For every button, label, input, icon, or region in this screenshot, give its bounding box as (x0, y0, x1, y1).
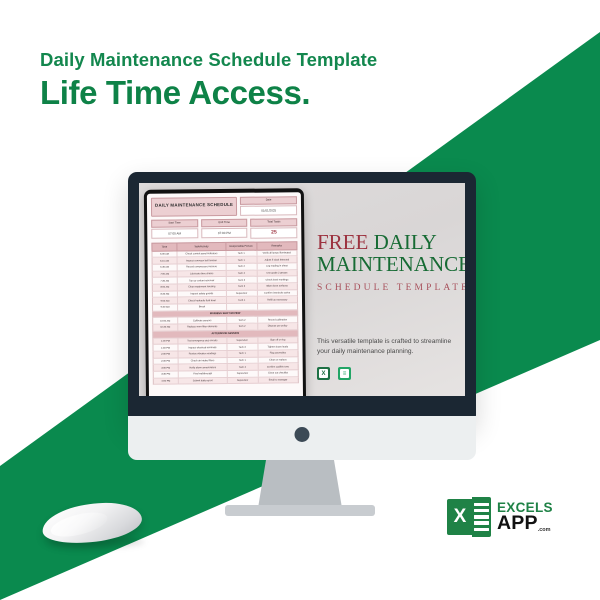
logo-text-app: APP.com (497, 514, 553, 534)
poster-line-2: MAINTENANCE (317, 253, 465, 275)
cell-time: 9:30 AM (153, 305, 178, 311)
cell-remarks: Refill as necessary (257, 297, 297, 303)
headline-subtitle: Daily Maintenance Schedule Template (40, 50, 377, 70)
cell-person: Supervisor (227, 337, 258, 343)
cell-remarks: Tighten loose leads (258, 343, 298, 349)
cell-time: 10:30 AM (153, 325, 178, 331)
cell-task: Test emergency stop circuits (178, 337, 227, 343)
google-sheets-icon-glyph: ≡ (340, 369, 349, 378)
cell-time: 6:30 AM (153, 264, 178, 270)
column-header-task: Task/Activity (177, 243, 226, 251)
cell-person: Tech 2 (227, 270, 258, 276)
cell-time: 6:15 AM (153, 258, 178, 264)
poster-line-3: SCHEDULE TEMPLATE (317, 283, 465, 293)
cell-task: Clean equipment housing (178, 284, 227, 290)
logo-x-letter: X (447, 499, 473, 535)
cell-remarks: Close out checklist (258, 370, 298, 376)
poster-word-daily: DAILY (374, 230, 437, 254)
cell-person: Tech 1 (227, 357, 258, 363)
cell-task: Calibrate sensors (178, 317, 227, 323)
spreadsheet-title: DAILY MAINTENANCE SCHEDULE (151, 197, 237, 217)
cell-person: Tech 3 (227, 277, 258, 283)
cell-task: Review vibration readings (178, 351, 227, 357)
field-start-time[interactable]: Start Time 07:00 AM (151, 219, 198, 239)
spreadsheet[interactable]: DAILY MAINTENANCE SCHEDULE Date 01/01/20… (147, 192, 303, 396)
cell-person: Tech 2 (227, 324, 258, 330)
cell-remarks: Record calibration (258, 317, 298, 323)
cell-time: 9:00 AM (153, 298, 178, 304)
poster-app-icons: X ≡ (317, 367, 465, 380)
cell-task: Replace worn filter elements (178, 324, 227, 330)
cell-task: Check hydraulic fluid level (178, 297, 227, 303)
cell-task: Check control panel indicators (177, 251, 226, 257)
excelsapp-logo[interactable]: X EXCELS APP.com (447, 497, 553, 537)
cell-task: Top up coolant reservoir (178, 277, 227, 283)
cell-task: Check air intake filters (179, 358, 228, 364)
cell-remarks: Use grade 2 grease (257, 270, 297, 276)
cell-time: 2:30 PM (154, 358, 179, 364)
field-start-time-label: Start Time (151, 219, 198, 227)
logo-text-app-main: APP (497, 512, 538, 534)
cell-remarks: Log reading in sheet (257, 263, 297, 269)
cell-remarks: Clean or replace (258, 357, 298, 363)
cell-time: 8:00 AM (153, 284, 178, 290)
cell-task: Verify alarm annunciators (179, 364, 228, 370)
cell-task: Inspect electrical terminals (178, 344, 227, 350)
poster-content: FREE DAILY MAINTENANCE SCHEDULE TEMPLATE… (317, 231, 465, 380)
tablet-device: DAILY MAINTENANCE SCHEDULE Date 01/01/20… (144, 188, 306, 396)
monitor-stand-base (225, 505, 375, 516)
excel-icon[interactable]: X (317, 367, 330, 380)
cell-time: 1:30 PM (153, 345, 178, 351)
cell-remarks: Dispose per policy (258, 323, 298, 329)
cell-person: Tech 1 (226, 257, 257, 263)
cell-person: Tech 1 (227, 297, 258, 303)
column-header-person: Responsible Person (226, 242, 257, 249)
cell-time: 1:00 PM (153, 338, 178, 344)
excel-icon-glyph: X (319, 369, 328, 378)
spreadsheet-header-row: DAILY MAINTENANCE SCHEDULE Date 01/01/20… (151, 196, 297, 216)
headline-title: Life Time Access. (40, 74, 377, 112)
cell-time: 8:30 AM (153, 291, 178, 297)
logo-mark: X (447, 497, 491, 537)
cell-person: Tech 3 (227, 344, 258, 350)
cell-person: Tech 1 (227, 351, 258, 357)
cell-remarks: Confirm interlocks active (257, 290, 297, 296)
logo-domain-suffix: .com (538, 527, 551, 533)
field-date-value: 01/01/2025 (240, 205, 297, 216)
monitor-logo-dot (295, 427, 310, 442)
cell-time: 2:00 PM (154, 351, 179, 357)
field-end-time[interactable]: End Time 07:00 PM (201, 219, 248, 239)
cell-person: Tech 3 (227, 284, 258, 290)
cell-remarks: Flag anomalies (258, 350, 298, 356)
cell-remarks: Adjust if slack detected (257, 256, 297, 262)
imac-monitor: DAILY MAINTENANCE SCHEDULE Date 01/01/20… (128, 172, 476, 424)
cell-person: Supervisor (228, 377, 259, 383)
cell-task: Lubricate drive chains (178, 271, 227, 277)
spreadsheet-meta-row: Start Time 07:00 AM End Time 07:00 PM To… (151, 218, 297, 239)
monitor-screen: DAILY MAINTENANCE SCHEDULE Date 01/01/20… (139, 183, 465, 396)
cell-time: 4:00 PM (154, 378, 179, 384)
field-total-tasks-value: 25 (251, 227, 298, 238)
field-total-tasks-label: Total Tasks (250, 218, 297, 226)
cell-time: 10:00 AM (153, 318, 178, 324)
cell-task: Final walkthrough (179, 371, 228, 377)
cell-remarks: Wipe down surfaces (257, 283, 297, 289)
field-start-time-value: 07:00 AM (151, 228, 198, 238)
cell-remarks: Check level markings (257, 277, 297, 283)
column-header-time: Time (152, 243, 177, 250)
cell-person: Tech 2 (227, 264, 258, 270)
computer-mouse (42, 500, 146, 552)
cell-time: 6:00 AM (152, 251, 177, 257)
poster-canvas: Daily Maintenance Schedule Template Life… (0, 0, 600, 600)
poster-tagline: This versatile template is crafted to st… (317, 337, 457, 359)
mouse-highlight (49, 508, 110, 541)
cell-task: Record compressor pressure (178, 264, 227, 270)
cell-remarks: Verify all lamps illuminated (257, 250, 297, 256)
cell-task: Inspect conveyor belt tension (178, 257, 227, 263)
monitor-stand-neck (258, 460, 342, 508)
field-end-time-value: 07:00 PM (201, 227, 248, 237)
poster-line-1: FREE DAILY (317, 231, 465, 253)
cell-person: Tech 2 (227, 317, 258, 323)
field-date-label: Date (240, 196, 297, 204)
cell-remarks: Confirm audible tone (258, 363, 298, 369)
cell-person (227, 304, 258, 310)
field-total-tasks[interactable]: Total Tasks 25 (250, 218, 297, 238)
cell-task: Break (178, 304, 227, 310)
cell-task: Inspect safety guards (178, 291, 227, 297)
cell-remarks: Sign off on log (258, 337, 298, 343)
field-date[interactable]: Date 01/01/2025 (240, 196, 297, 215)
cell-person: Supervisor (228, 371, 259, 377)
spreadsheet-rows: 6:00 AMCheck control panel indicatorsTec… (151, 250, 298, 385)
spreadsheet-grid-icon (472, 497, 491, 537)
table-row[interactable]: 4:00 PMSubmit daily reportSupervisorEmai… (153, 377, 299, 385)
cell-time: 7:30 AM (153, 278, 178, 284)
google-sheets-icon[interactable]: ≡ (338, 367, 351, 380)
cell-time: 3:30 PM (154, 371, 179, 377)
cell-person: Tech 2 (228, 364, 259, 370)
column-header-remarks: Remarks (257, 242, 297, 249)
poster-word-free: FREE (317, 230, 368, 254)
cell-time: 7:00 AM (153, 271, 178, 277)
cell-task: Submit daily report (179, 378, 228, 384)
cell-person: Tech 1 (226, 250, 257, 256)
field-end-time-label: End Time (201, 219, 248, 227)
headline-block: Daily Maintenance Schedule Template Life… (40, 50, 377, 112)
cell-time: 3:00 PM (154, 365, 179, 371)
cell-remarks (258, 303, 298, 309)
cell-remarks: Email to manager (258, 377, 298, 383)
logo-wordmark: EXCELS APP.com (497, 501, 553, 534)
cell-person: Supervisor (227, 290, 258, 296)
